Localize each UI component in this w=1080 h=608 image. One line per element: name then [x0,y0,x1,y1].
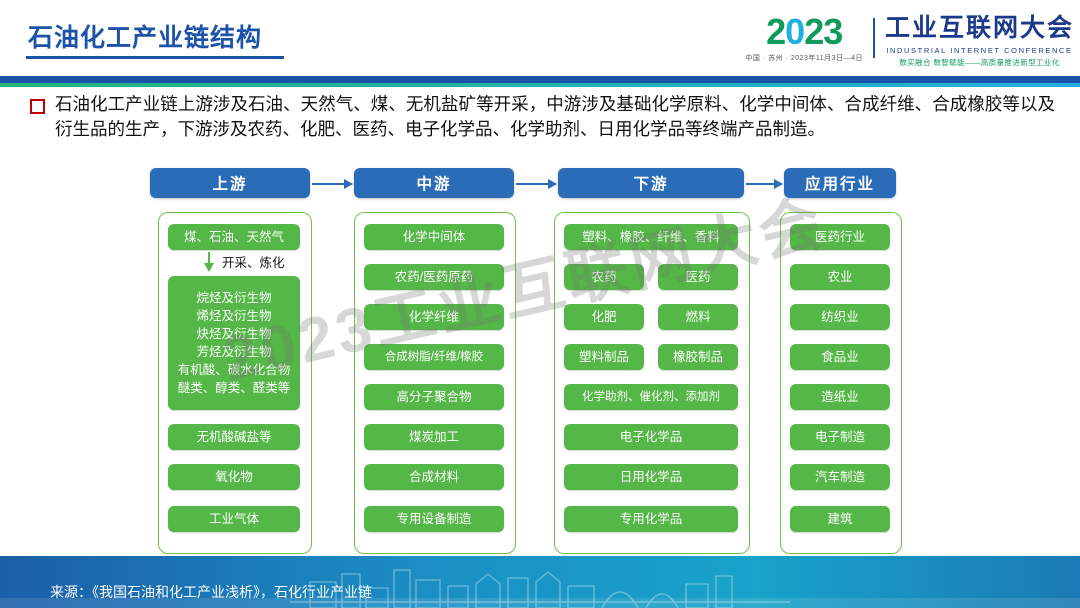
chip-application-7[interactable]: 建筑 [790,506,890,532]
logo-year: 2023 [766,14,842,50]
chip-downstream-0[interactable]: 塑料、橡胶、纤维、香料 [564,224,738,250]
chip-application-1[interactable]: 农业 [790,264,890,290]
chip-downstream-9[interactable]: 日用化学品 [564,464,738,490]
logo-year-subtitle: 中国 · 苏州 · 2023年11月3日—4日 [745,53,863,63]
arrow-downstream-to-application [746,183,782,185]
chip-upstream-5: 芳烃及衍生物 [196,343,271,361]
source-note: 来源：《我国石油和化工产业浅析》，石化行业产业链 [50,582,372,602]
title-underline [26,56,284,59]
chip-application-6[interactable]: 汽车制造 [790,464,890,490]
logo-tagline: 数实融合 数智赋能——高质量推进新型工业化 [899,57,1059,68]
chip-upstream-2: 烷烃及衍生物 [196,289,271,307]
chip-midstream-2[interactable]: 化学纤维 [364,304,504,330]
chip-downstream-8[interactable]: 电子化学品 [564,424,738,450]
chip-midstream-5[interactable]: 煤炭加工 [364,424,504,450]
value-chain-diagram: 上游 中游 下游 应用行业 煤、石油、天然气 开采、炼化 烷烃及衍生物 烯烃及衍… [150,168,910,560]
header-rule-green [0,83,1080,87]
chip-application-4[interactable]: 造纸业 [790,384,890,410]
chip-upstream-3: 烯烃及衍生物 [196,307,271,325]
chip-upstream-9[interactable]: 氧化物 [168,464,300,490]
chip-downstream-4[interactable]: 燃料 [658,304,738,330]
chip-application-0[interactable]: 医药行业 [790,224,890,250]
logo-divider [873,18,875,58]
header-rule-blue [0,76,1080,83]
column-head-upstream[interactable]: 上游 [150,168,310,198]
logo-title-en: INDUSTRIAL INTERNET CONFERENCE [886,46,1072,55]
chip-upstream-4: 炔烃及衍生物 [196,325,271,343]
chip-midstream-1[interactable]: 农药/医药原药 [364,264,504,290]
column-head-downstream[interactable]: 下游 [558,168,744,198]
bullet-square-icon [30,99,45,114]
logo-year-block: 2023 中国 · 苏州 · 2023年11月3日—4日 [745,14,863,63]
chip-midstream-6[interactable]: 合成材料 [364,464,504,490]
chip-midstream-7[interactable]: 专用设备制造 [364,506,504,532]
chip-application-2[interactable]: 纺织业 [790,304,890,330]
arrow-upstream-to-midstream [312,183,352,185]
bullet-text: 石油化工产业链上游涉及石油、天然气、煤、无机盐矿等开采，中游涉及基础化学原料、化… [55,92,1055,142]
column-head-midstream[interactable]: 中游 [354,168,514,198]
chip-downstream-7[interactable]: 化学助剂、催化剂、添加剂 [564,384,738,410]
chip-upstream-1: 开采、炼化 [222,252,285,271]
chip-downstream-1[interactable]: 农药 [564,264,644,290]
chip-midstream-3[interactable]: 合成树脂/纤维/橡胶 [364,344,504,370]
column-head-application[interactable]: 应用行业 [784,168,896,198]
chip-upstream-8[interactable]: 无机酸碱盐等 [168,424,300,450]
chip-downstream-2[interactable]: 医药 [658,264,738,290]
logo-title-cn: 工业互联网大会 [885,8,1074,44]
arrow-midstream-to-downstream [516,183,556,185]
chip-downstream-3[interactable]: 化肥 [564,304,644,330]
bullet-paragraph: 石油化工产业链上游涉及石油、天然气、煤、无机盐矿等开采，中游涉及基础化学原料、化… [30,92,1055,142]
chip-downstream-6[interactable]: 橡胶制品 [658,344,738,370]
page-title: 石油化工产业链结构 [28,18,262,54]
chip-midstream-4[interactable]: 高分子聚合物 [364,384,504,410]
chip-application-3[interactable]: 食品业 [790,344,890,370]
chip-upstream-7: 醚类、醇类、醛类等 [178,379,291,397]
chip-downstream-5[interactable]: 塑料制品 [564,344,644,370]
chip-upstream-0[interactable]: 煤、石油、天然气 [168,224,300,250]
logo-text-block: 工业互联网大会 INDUSTRIAL INTERNET CONFERENCE 数… [885,8,1074,68]
page-header: 石油化工产业链结构 2023 中国 · 苏州 · 2023年11月3日—4日 工… [0,0,1080,76]
conference-logo: 2023 中国 · 苏州 · 2023年11月3日—4日 工业互联网大会 IND… [744,4,1074,72]
chip-midstream-0[interactable]: 化学中间体 [364,224,504,250]
chip-upstream-group[interactable]: 烷烃及衍生物 烯烃及衍生物 炔烃及衍生物 芳烃及衍生物 有机酸、碳水化合物 醚类… [168,276,300,410]
chip-upstream-10[interactable]: 工业气体 [168,506,300,532]
chip-upstream-6: 有机酸、碳水化合物 [178,361,291,379]
arrow-down-upstream [208,252,210,264]
page-footer: 来源：《我国石油和化工产业浅析》，石化行业产业链 [0,556,1080,608]
chip-downstream-10[interactable]: 专用化学品 [564,506,738,532]
chip-application-5[interactable]: 电子制造 [790,424,890,450]
